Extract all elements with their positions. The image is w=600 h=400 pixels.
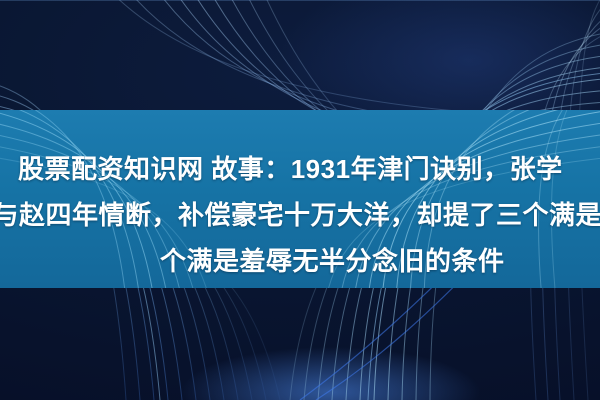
top-hairline <box>0 0 600 1</box>
headline-band <box>0 110 600 288</box>
band-curve-overlay <box>0 110 600 288</box>
decorative-banner: 股票配资知识网 故事：1931年津门诀别，张学 良与赵四年情断，补偿豪宅十万大洋… <box>0 0 600 400</box>
